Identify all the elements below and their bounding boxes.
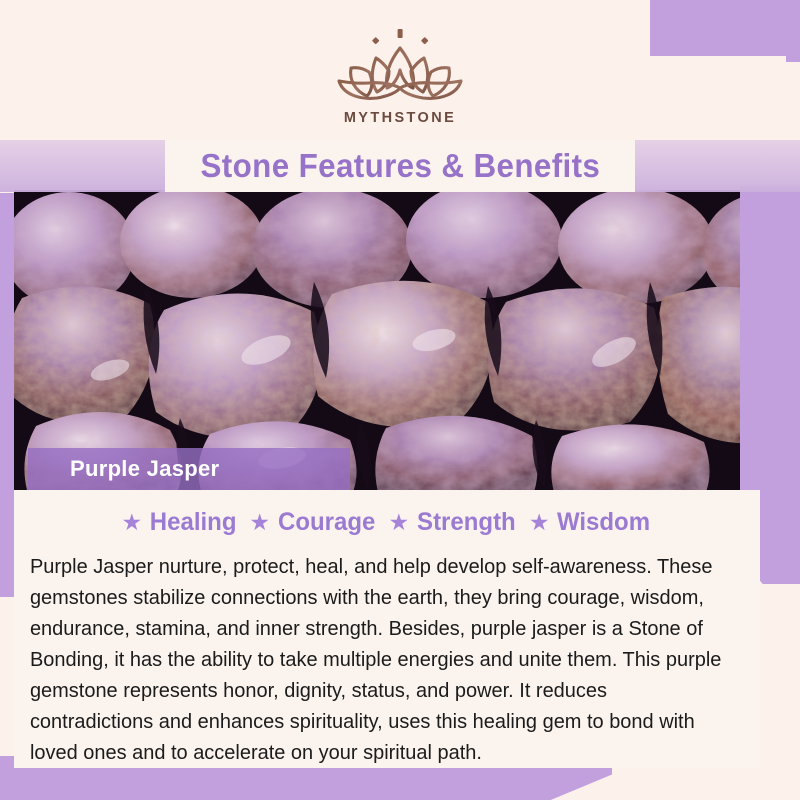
stone-photo-image [14,190,786,490]
page-title: Stone Features & Benefits [200,147,600,185]
benefit-wisdom: ★ Wisdom [529,508,653,537]
star-icon: ★ [122,511,143,534]
star-icon: ★ [529,511,550,534]
benefit-label: Healing [150,508,237,537]
lotus-flower-icon [315,26,485,108]
stone-name-text: Purple Jasper [28,456,219,482]
stone-photo: Purple Jasper [14,190,786,490]
star-icon: ★ [249,511,270,534]
benefit-label: Courage [278,508,375,537]
brand-name: MYTHSTONE [344,110,456,126]
content-card: ★ Healing ★ Courage ★ Strength ★ Wisdom … [14,490,760,768]
benefits-list: ★ Healing ★ Courage ★ Strength ★ Wisdom [28,508,746,537]
benefit-courage: ★ Courage [249,508,377,537]
description-text: Purple Jasper nurture, protect, heal, an… [28,551,724,768]
stone-name-label: Purple Jasper [28,448,350,490]
benefit-label: Wisdom [557,508,650,537]
brand-logo: MYTHSTONE [310,26,490,126]
benefit-strength: ★ Strength [388,508,517,537]
benefit-label: Strength [417,508,516,537]
brand-header: MYTHSTONE [0,0,800,148]
star-icon: ★ [388,511,409,534]
benefit-healing: ★ Healing [122,508,239,537]
